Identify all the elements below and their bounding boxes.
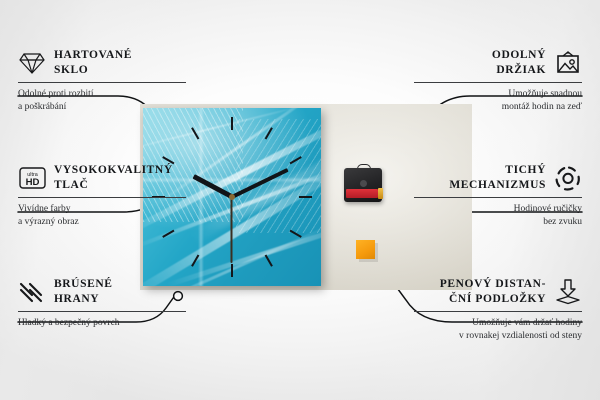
feature-high-quality-print: ultra HD VYSOKOKVALITNÝ TLAČ Vivídne far… <box>18 163 186 228</box>
mechanism-body <box>344 168 382 202</box>
feature-silent-mechanism: TICHÝ MECHANIZMUS Hodinové ručičky bez z… <box>414 163 582 228</box>
feature-divider <box>414 311 582 312</box>
clock-center-cap <box>229 194 235 200</box>
feature-divider <box>18 82 186 83</box>
clock-tick <box>231 117 233 130</box>
feature-description: Hladký a bezpečný povrch <box>18 317 186 330</box>
feature-title: ODOLNÝ DRŽIAK <box>492 48 546 77</box>
feature-polished-edges: BRÚSENÉ HRANY Hladký a bezpečný povrch <box>18 277 186 330</box>
feature-divider <box>414 82 582 83</box>
picture-frame-hanger-icon <box>554 49 582 77</box>
feature-description: Umožňuje vám držať hodiny v rovnakej vzd… <box>414 317 582 342</box>
feature-divider <box>414 197 582 198</box>
clock-mechanism <box>344 164 382 202</box>
infographic-canvas: HARTOVANÉ SKLO Odolné proti rozbití a po… <box>0 0 600 400</box>
feature-divider <box>18 311 186 312</box>
foam-spacer-pad <box>356 240 375 259</box>
feature-description: Vivídne farby a výrazný obraz <box>18 203 186 228</box>
clock-tick <box>299 196 312 198</box>
feature-header: HARTOVANÉ SKLO <box>18 48 186 78</box>
glass-reflection-vertical <box>198 108 204 286</box>
feature-title: PENOVÝ DISTAN- ČNÍ PODLOŽKY <box>440 277 546 306</box>
svg-text:HD: HD <box>25 177 39 188</box>
feature-header: TICHÝ MECHANIZMUS <box>414 163 582 193</box>
feature-header: BRÚSENÉ HRANY <box>18 277 186 307</box>
feature-header: PENOVÝ DISTAN- ČNÍ PODLOŽKY <box>414 277 582 307</box>
feature-description: Hodinové ručičky bez zvuku <box>414 203 582 228</box>
ultra-hd-icon: ultra HD <box>18 164 46 192</box>
diagonal-lines-icon <box>18 278 46 306</box>
clock-tick <box>265 255 273 267</box>
battery-terminal <box>378 188 383 199</box>
feature-header: ODOLNÝ DRŽIAK <box>414 48 582 78</box>
feature-title: HARTOVANÉ SKLO <box>54 48 132 77</box>
feature-description: Odolné proti rozbití a poškrábání <box>18 88 186 113</box>
feature-foam-spacer-pads: PENOVÝ DISTAN- ČNÍ PODLOŽKY Umožňuje vám… <box>414 277 582 342</box>
mechanism-shaft <box>360 180 367 187</box>
arrow-onto-layer-icon <box>554 278 582 306</box>
feature-description: Umožňuje snadnou montáž hodin na zeď <box>414 88 582 113</box>
feature-header: ultra HD VYSOKOKVALITNÝ TLAČ <box>18 163 186 193</box>
feature-tempered-glass: HARTOVANÉ SKLO Odolné proti rozbití a po… <box>18 48 186 113</box>
feature-title: BRÚSENÉ HRANY <box>54 277 113 306</box>
feature-title: VYSOKOKVALITNÝ TLAČ <box>54 163 173 192</box>
gear-icon <box>554 164 582 192</box>
feature-durable-holder: ODOLNÝ DRŽIAK Umožňuje snadnou montáž ho… <box>414 48 582 113</box>
diamond-icon <box>18 49 46 77</box>
mechanism-battery <box>346 189 378 198</box>
clock-tick <box>231 264 233 277</box>
feature-divider <box>18 197 186 198</box>
feature-title: TICHÝ MECHANIZMUS <box>449 163 546 192</box>
